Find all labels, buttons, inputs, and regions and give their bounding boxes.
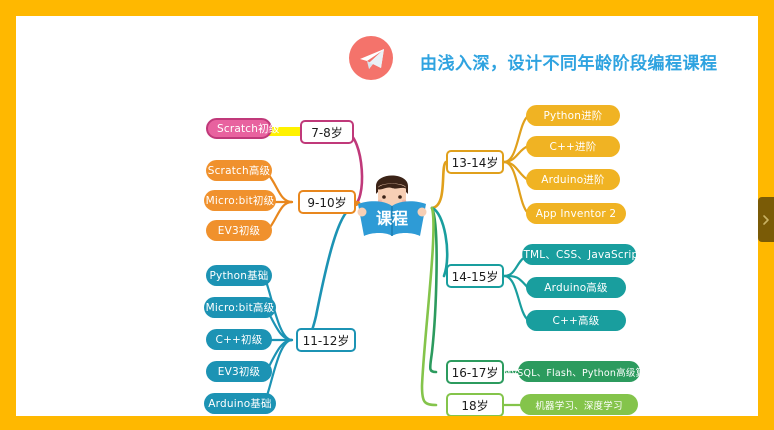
node-scratch-chuji[interactable]: Scratch初级 bbox=[206, 118, 272, 139]
center-node-course[interactable]: 课程 bbox=[350, 164, 434, 242]
node-arduino-gaoji[interactable]: Arduino高级 bbox=[526, 277, 626, 298]
link-center-to-11-12 bbox=[298, 208, 352, 340]
node-arduino-jichu[interactable]: Arduino基础 bbox=[204, 393, 276, 414]
node-label: Scratch初级 bbox=[217, 121, 280, 136]
node-mysql-flash-python[interactable]: MySQL、Flash、Python高级算法 bbox=[518, 361, 640, 382]
node-app-inventor-2[interactable]: App Inventor 2 bbox=[526, 203, 626, 224]
node-arduino-jinjie[interactable]: Arduino进阶 bbox=[526, 169, 620, 190]
link-13-14-to-app-inventor bbox=[504, 162, 528, 213]
age-box-11-12[interactable]: 11-12岁 bbox=[296, 328, 356, 352]
mindmap-canvas[interactable]: 由浅入深，设计不同年龄阶段编程课程 bbox=[16, 16, 758, 416]
age-box-14-15[interactable]: 14-15岁 bbox=[446, 264, 504, 288]
age-box-16-17[interactable]: 16-17岁 bbox=[446, 360, 504, 384]
node-scratch-gaoji[interactable]: Scratch高级 bbox=[206, 160, 272, 181]
age-box-7-8[interactable]: 7-8岁 bbox=[300, 120, 354, 144]
age-box-18[interactable]: 18岁 bbox=[446, 393, 504, 416]
node-cpp-gaoji[interactable]: C++高级 bbox=[526, 310, 626, 331]
node-ev3-chuji-2[interactable]: EV3初级 bbox=[206, 361, 272, 382]
node-ml-dl[interactable]: 机器学习、深度学习 bbox=[520, 394, 638, 415]
node-microbit-gaoji[interactable]: Micro:bit高级 bbox=[204, 297, 276, 318]
link-center-to-13-14 bbox=[432, 162, 446, 208]
node-ev3-chuji[interactable]: EV3初级 bbox=[206, 220, 272, 241]
boy-reading-book-illustration: 课程 bbox=[350, 164, 434, 242]
center-node-label: 课程 bbox=[376, 209, 408, 228]
node-html-css-javascript[interactable]: HTML、CSS、JavaScript bbox=[522, 244, 636, 265]
node-microbit-chuji[interactable]: Micro:bit初级 bbox=[204, 190, 276, 211]
node-cpp-chuji[interactable]: C++初级 bbox=[206, 329, 272, 350]
paper-plane-icon bbox=[349, 36, 393, 80]
page-title: 由浅入深，设计不同年龄阶段编程课程 bbox=[420, 49, 718, 74]
node-python-jinjie[interactable]: Python进阶 bbox=[526, 105, 620, 126]
mindmap-canvas-frame: 由浅入深，设计不同年龄阶段编程课程 bbox=[16, 16, 758, 416]
expand-panel-tab[interactable] bbox=[758, 197, 774, 242]
age-box-9-10[interactable]: 9-10岁 bbox=[298, 190, 356, 214]
age-box-13-14[interactable]: 13-14岁 bbox=[446, 150, 504, 174]
chevron-right-icon bbox=[762, 214, 770, 226]
node-python-jichu[interactable]: Python基础 bbox=[206, 265, 272, 286]
node-cpp-jinjie[interactable]: C++进阶 bbox=[526, 136, 620, 157]
